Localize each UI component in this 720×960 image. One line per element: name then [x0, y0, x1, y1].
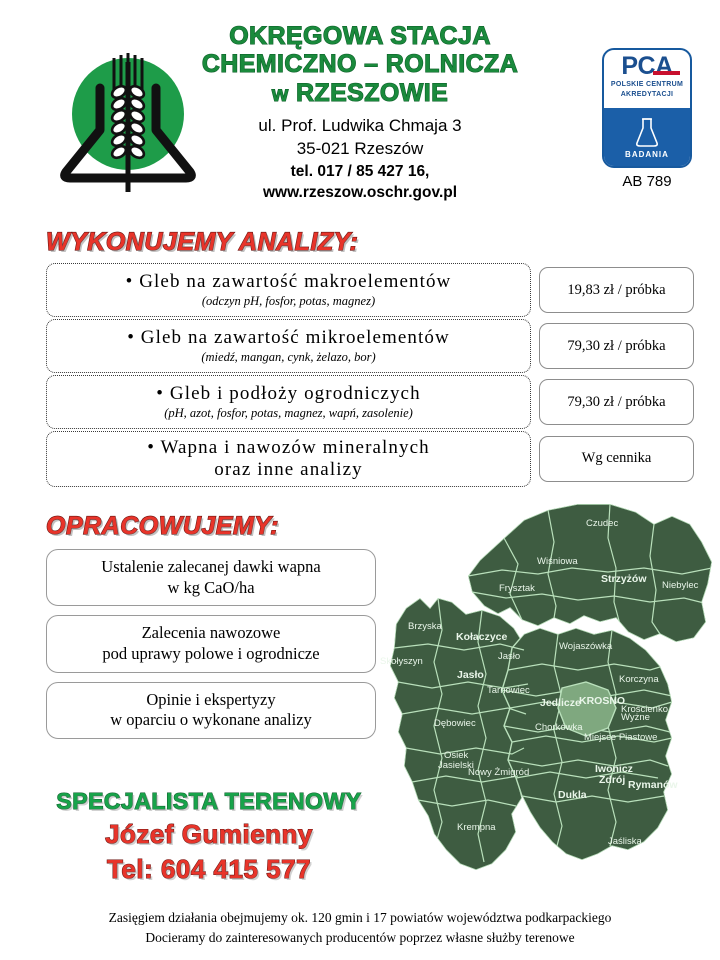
analysis-title: • Wapna i nawozów mineralnych: [147, 437, 430, 459]
map-label-7: Wojaszówka: [559, 641, 613, 652]
map-label-3: Niebylec: [662, 580, 699, 591]
address-city: 35-021 Rzeszów: [160, 137, 560, 160]
analysis-price: Wg cennika: [539, 436, 694, 482]
org-name-line3-prefix: w: [272, 83, 289, 106]
address-street: ul. Prof. Ludwika Chmaja 3: [160, 114, 560, 137]
analysis-price: 79,30 zł / próbka: [539, 379, 694, 425]
pca-scope: BADANIA: [625, 150, 669, 159]
analysis-description: • Gleb na zawartość makroelementów (odcz…: [46, 263, 531, 317]
analysis-title-second-line: oraz inne analizy: [214, 459, 362, 481]
analysis-description: • Gleb i podłoży ogrodniczych (pH, azot,…: [46, 375, 531, 429]
footer-line1: Zasięgiem działania obejmujemy ok. 120 g…: [0, 908, 720, 928]
specialist-phone[interactable]: Tel: 604 415 577: [34, 854, 384, 885]
field-specialist-block: SPECJALISTA TERENOWY Józef Gumienny Tel:…: [34, 788, 384, 885]
service-line2: w kg CaO/ha: [101, 578, 320, 599]
service-line2: pod uprawy polowe i ogrodnicze: [102, 644, 319, 665]
service-item: Ustalenie zalecanej dawki wapna w kg CaO…: [46, 549, 376, 606]
analyses-heading: WYKONUJEMY ANALIZY:: [46, 228, 696, 257]
map-label-11: Korczyna: [619, 674, 659, 685]
analysis-price: 79,30 zł / próbka: [539, 323, 694, 369]
pca-accreditation-code: AB 789: [598, 173, 696, 190]
map-label-22: Nowy Żmigród: [468, 767, 529, 778]
map-label-26: Dukla: [558, 789, 587, 801]
map-label-4: Frysztak: [499, 583, 535, 594]
footer-line2: Docieramy do zainteresowanych producentó…: [0, 928, 720, 948]
pca-red-bar: [653, 71, 680, 75]
analysis-row: • Gleb na zawartość mikroelementów (mied…: [46, 319, 696, 373]
analysis-row: • Wapna i nawozów mineralnych oraz inne …: [46, 431, 696, 487]
map-label-12: Tarnowiec: [487, 685, 530, 696]
org-name-line3-city: RZESZOWIE: [296, 79, 448, 107]
analysis-row: • Gleb na zawartość makroelementów (odcz…: [46, 263, 696, 317]
pca-subtitle-line2: AKREDYTACJI: [604, 90, 690, 99]
map-label-2: Strzyżów: [601, 573, 647, 585]
website-url[interactable]: www.rzeszow.oschr.gov.pl: [160, 182, 560, 203]
coverage-footer: Zasięgiem działania obejmujemy ok. 120 g…: [0, 908, 720, 947]
service-line2: w oparciu o wykonane analizy: [110, 710, 312, 731]
analysis-title: • Gleb i podłoży ogrodniczych: [156, 383, 420, 405]
pca-subtitle-line1: POLSKIE CENTRUM: [604, 80, 690, 89]
map-label-5: Brzyska: [408, 621, 443, 632]
coverage-map: CzudecWiśniowaStrzyżówNiebylecFrysztakBr…: [372, 498, 720, 928]
org-name-line3: w RZESZOWIE: [160, 79, 560, 107]
service-line1: Opinie i ekspertyzy: [110, 690, 312, 711]
pca-card-top: PCA POLSKIE CENTRUM AKREDYTACJI: [604, 50, 690, 108]
map-label-14: KROSNO: [579, 695, 625, 707]
analysis-title: • Gleb na zawartość mikroelementów: [127, 327, 450, 349]
analysis-subtitle: (odczyn pH, fosfor, potas, magnez): [202, 294, 375, 309]
map-label-28: Jaśliska: [608, 836, 643, 847]
pca-card: PCA POLSKIE CENTRUM AKREDYTACJI BADANIA: [602, 48, 692, 168]
map-label-8: Skołyszyn: [380, 656, 423, 667]
map-label-17: Dębowiec: [434, 718, 476, 729]
map-cluster-2: [502, 628, 672, 860]
service-line1: Ustalenie zalecanej dawki wapna: [101, 557, 320, 578]
services-section: OPRACOWUJEMY: Ustalenie zalecanej dawki …: [46, 512, 376, 748]
analysis-subtitle: (pH, azot, fosfor, potas, magnez, wapń, …: [164, 406, 413, 421]
org-name-line1: OKRĘGOWA STACJA: [160, 22, 560, 50]
map-label-19: Miejsce Piastowe: [584, 732, 657, 743]
map-label-0: Czudec: [586, 518, 618, 529]
analysis-price: 19,83 zł / próbka: [539, 267, 694, 313]
map-label-27: Krempna: [457, 822, 496, 833]
page-header: OKRĘGOWA STACJA CHEMICZNO – ROLNICZA w R…: [0, 0, 720, 215]
map-label-25: Rymanów: [628, 779, 678, 791]
analyses-section: WYKONUJEMY ANALIZY: • Gleb na zawartość …: [46, 228, 696, 489]
specialist-role: SPECJALISTA TERENOWY: [34, 788, 384, 815]
pca-acronym-text: PCA: [621, 52, 672, 80]
organisation-title: OKRĘGOWA STACJA CHEMICZNO – ROLNICZA w R…: [160, 22, 560, 203]
service-item: Zalecenia nawozowe pod uprawy polowe i o…: [46, 615, 376, 672]
analysis-row: • Gleb i podłoży ogrodniczych (pH, azot,…: [46, 375, 696, 429]
org-name-line2: CHEMICZNO – ROLNICZA: [160, 50, 560, 78]
map-label-9: Jasło: [498, 651, 520, 662]
map-label-1: Wiśniowa: [537, 556, 578, 567]
analysis-title: • Gleb na zawartość makroelementów: [126, 271, 452, 293]
map-label-16: Wyżne: [621, 712, 650, 723]
map-label-24: Zdrój: [599, 774, 625, 786]
address-block: ul. Prof. Ludwika Chmaja 3 35-021 Rzeszó…: [160, 114, 560, 204]
map-label-10: Jasło: [457, 669, 484, 681]
service-line1: Zalecenia nawozowe: [102, 623, 319, 644]
pca-acronym: PCA: [604, 54, 690, 79]
map-label-18: Chorkówka: [535, 722, 583, 733]
analysis-description: • Wapna i nawozów mineralnych oraz inne …: [46, 431, 531, 487]
accreditation-badge: PCA POLSKIE CENTRUM AKREDYTACJI BADANIA …: [598, 48, 696, 190]
phone-number: tel. 017 / 85 427 16,: [160, 161, 560, 182]
map-label-13: Jedlicze: [540, 697, 581, 709]
map-label-6: Kołaczyce: [456, 631, 508, 643]
analysis-subtitle: (miedź, mangan, cynk, żelazo, bor): [201, 350, 375, 365]
analysis-description: • Gleb na zawartość mikroelementów (mied…: [46, 319, 531, 373]
pca-card-bottom: BADANIA: [604, 108, 690, 166]
specialist-name: Józef Gumienny: [34, 819, 384, 850]
flask-icon: [634, 116, 660, 148]
service-item: Opinie i ekspertyzy w oparciu o wykonane…: [46, 682, 376, 739]
services-heading: OPRACOWUJEMY:: [46, 512, 376, 541]
